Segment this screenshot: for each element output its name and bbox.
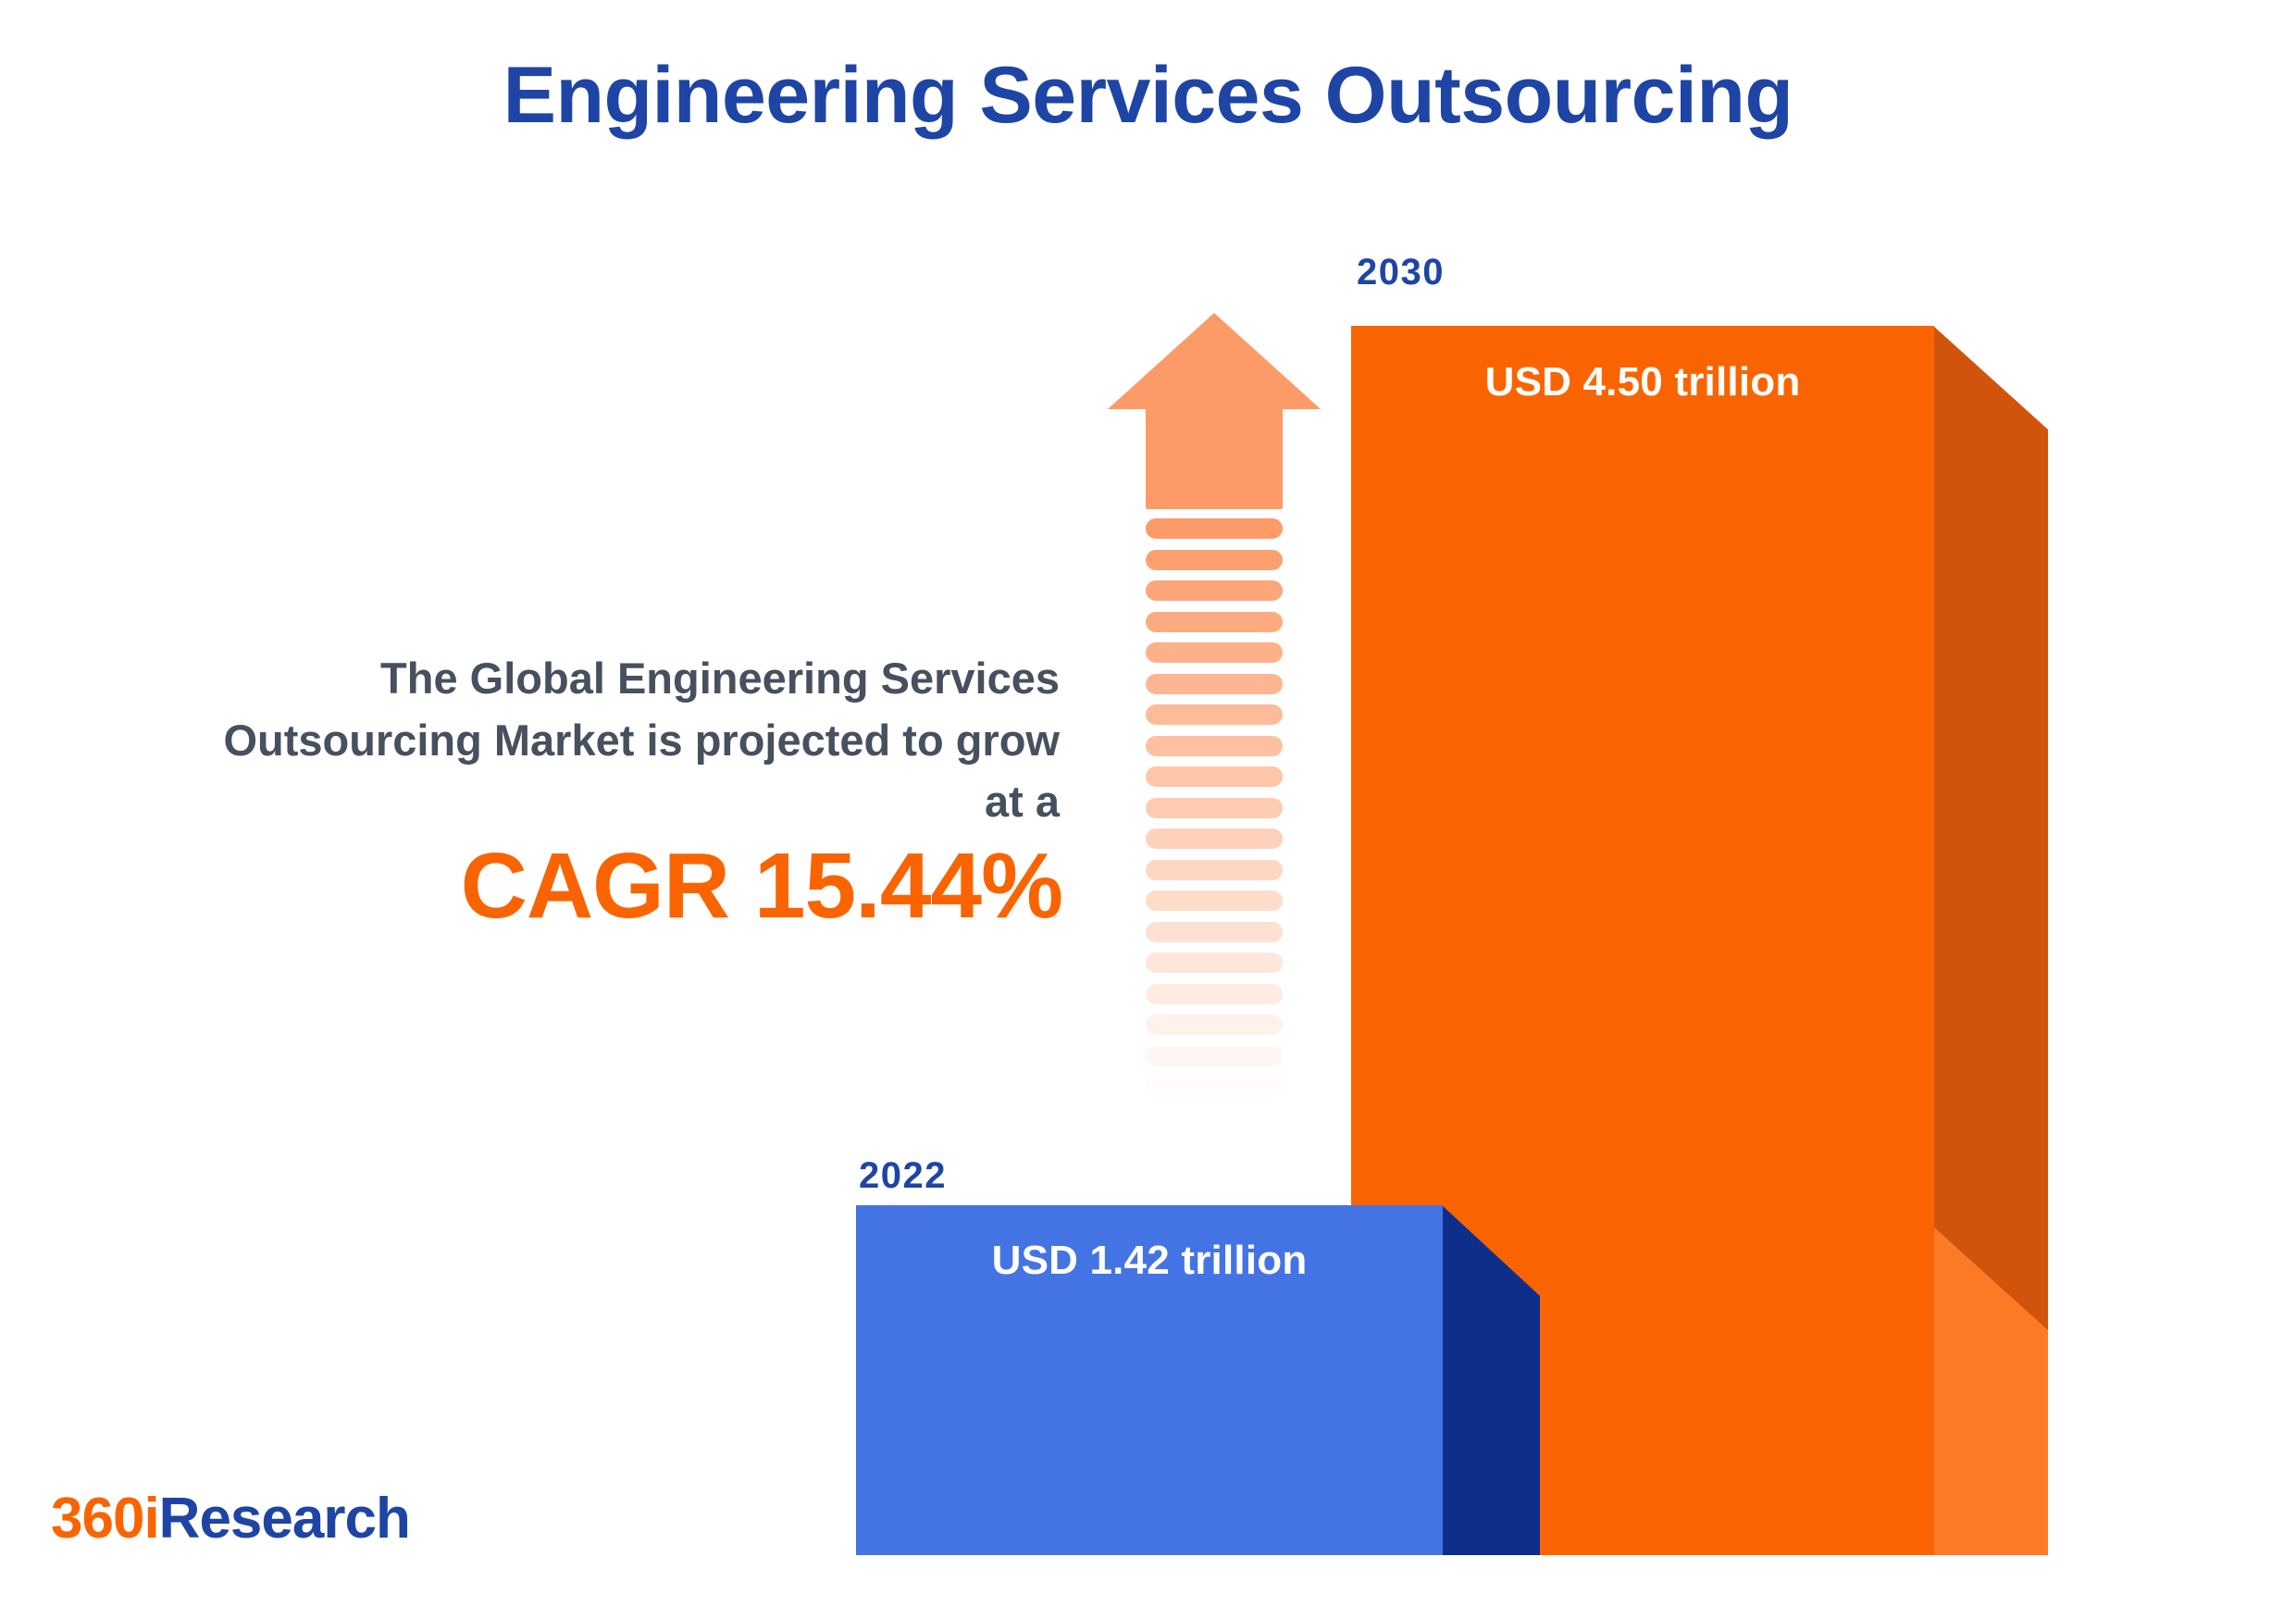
brand-logo[interactable]: 360iResearch [51, 1486, 410, 1551]
bar-value-2030: USD 4.50 trillion [1351, 359, 1934, 405]
bar-label-2022: 2022 [859, 1155, 947, 1197]
infographic-canvas: Engineering Services Outsourcing The Glo… [0, 0, 2296, 1619]
bar-value-2022: USD 1.42 trillion [856, 1238, 1443, 1284]
bar-label-2030: 2030 [1357, 252, 1445, 293]
logo-research: Research [159, 1487, 410, 1551]
logo-360i: 360i [51, 1487, 159, 1551]
bar-chart-stage: 2030 2022 USD 4.50 trillion USD 1.42 tri… [0, 0, 2296, 1619]
